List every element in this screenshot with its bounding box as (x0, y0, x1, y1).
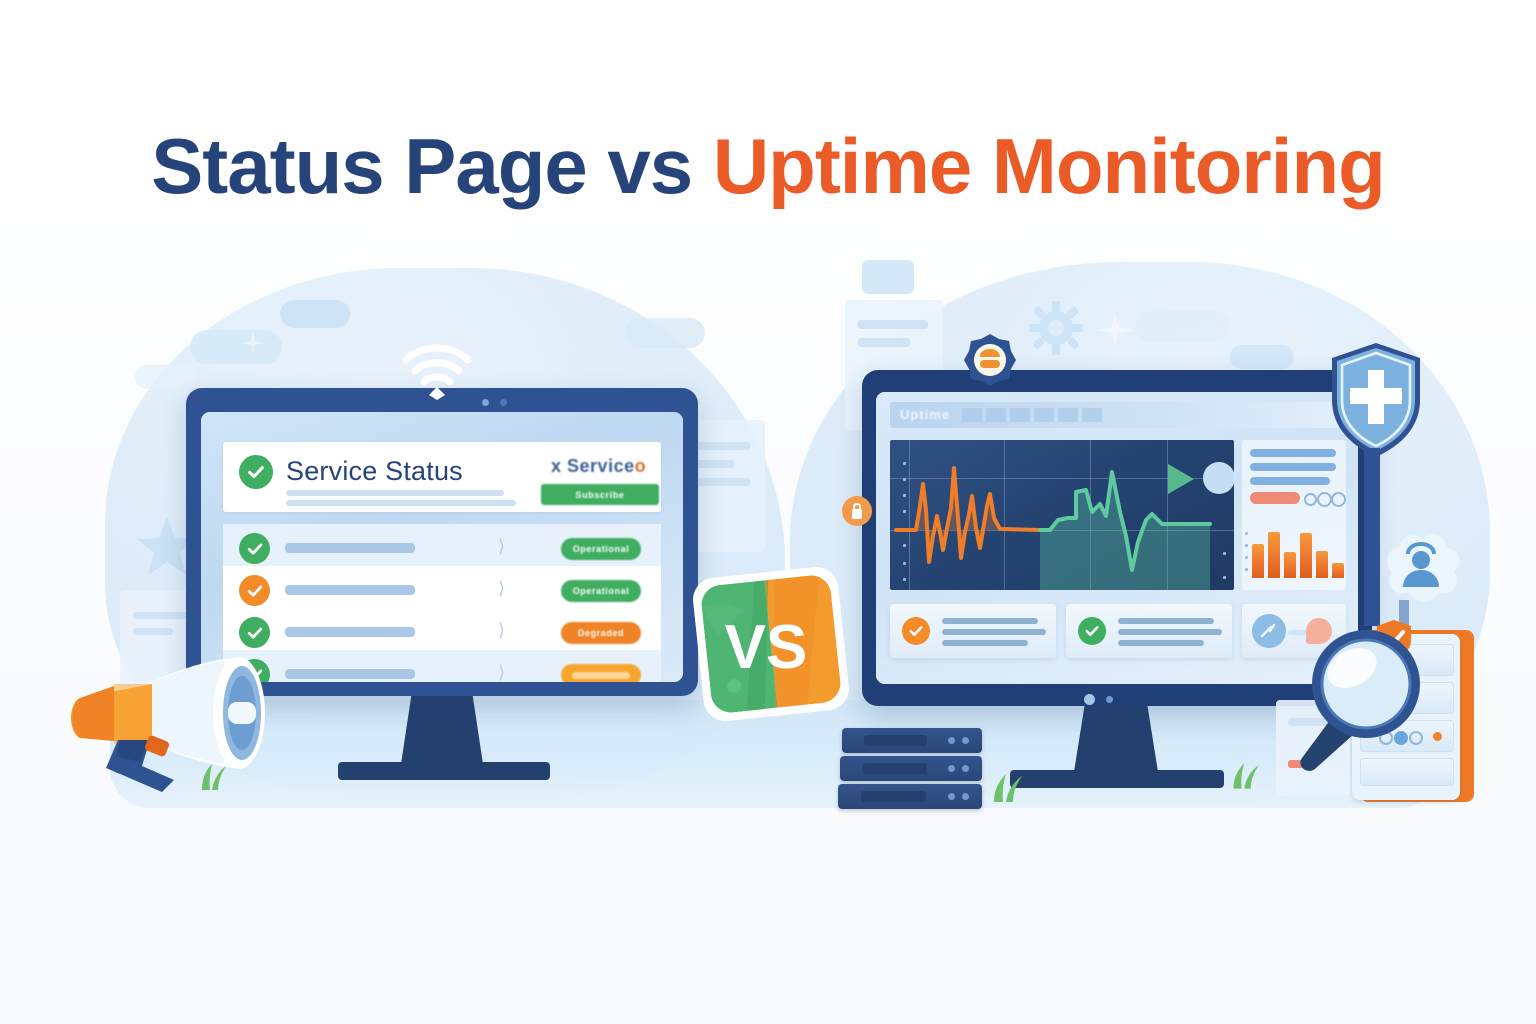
background-deco-line-1 (133, 612, 189, 619)
title-part-status-page: Status Page vs (151, 122, 692, 210)
background-deco-window-line-2 (858, 338, 910, 347)
play-triangle-icon[interactable] (1168, 464, 1194, 494)
megaphone-icon (62, 640, 302, 800)
card-line (1118, 640, 1204, 646)
side-panel-line-1 (1250, 449, 1336, 457)
shield-check-icon (1328, 340, 1424, 462)
vs-badge-text: VS (725, 613, 808, 682)
header-placeholder-line-2 (286, 500, 516, 506)
server-unit (840, 756, 982, 781)
side-panel-line-3 (1250, 477, 1330, 485)
row-label-placeholder (285, 543, 415, 553)
subscribe-button[interactable]: Subscribe (541, 484, 659, 505)
magnifier-icon (1286, 620, 1436, 776)
monitor-stand-base-left (338, 762, 550, 780)
background-deco-line-2 (133, 628, 173, 635)
chevron-right-icon: ⟩ (498, 662, 505, 682)
brand-prefix: x (551, 456, 562, 476)
status-badge: Operational (561, 538, 641, 560)
brand-logo: x Serviceo (551, 456, 646, 477)
status-badge (561, 664, 641, 682)
monitor-camera-dot-left (482, 399, 489, 406)
side-chart-tick (1245, 556, 1248, 559)
chevron-right-icon: ⟩ (498, 578, 505, 599)
grass-icon-left (196, 762, 236, 790)
service-status-title: Service Status (286, 456, 463, 487)
check-circle-icon-card-1 (902, 617, 930, 645)
check-circle-icon-header (239, 455, 273, 489)
side-panel-ring-3 (1331, 492, 1346, 507)
monitor-indicator-dot-right (1106, 696, 1113, 703)
side-panel-ring-2 (1317, 492, 1332, 507)
header-placeholder-line-1 (286, 490, 504, 496)
side-panel-line-2 (1250, 463, 1336, 471)
response-time-chart (890, 440, 1234, 590)
background-cloud-5 (1230, 345, 1294, 369)
brand-name: Service (567, 456, 635, 476)
toolbar-label: Uptime (900, 407, 950, 422)
status-card[interactable] (890, 604, 1056, 658)
side-bar-chart-bar (1268, 532, 1280, 578)
check-circle-icon-row-2 (239, 575, 270, 606)
background-deco-chip (862, 260, 914, 294)
row-label-placeholder (285, 585, 415, 595)
server-unit (838, 784, 982, 809)
metrics-side-panel (1242, 440, 1346, 590)
monitor-stand-neck-left (401, 688, 483, 764)
background-deco-window-line-1 (858, 320, 928, 329)
side-chart-tick (1245, 544, 1248, 547)
chart-series-incident-line (896, 468, 1040, 562)
monitor-stand-neck-right (1074, 698, 1158, 772)
chevron-right-icon: ⟩ (498, 536, 505, 557)
background-cloud-3 (135, 365, 197, 389)
side-bar-chart-bar (1284, 552, 1296, 578)
server-unit (842, 728, 982, 753)
monitor-indicator-dot-left (500, 399, 507, 406)
card-line (942, 618, 1038, 624)
status-card[interactable] (1066, 604, 1232, 658)
illustration-canvas: Status Page vs Uptime Monitoring (0, 0, 1536, 1024)
background-sparkle-icon-1 (1095, 310, 1135, 350)
grass-icon-right (988, 772, 1032, 802)
background-cloud-6 (625, 318, 705, 348)
side-panel-alert-pill (1250, 492, 1300, 504)
lock-badge-icon (842, 496, 872, 526)
gauge-icon (1252, 614, 1286, 648)
browser-toolbar[interactable]: Uptime (890, 402, 1344, 428)
row-label-placeholder (285, 627, 415, 637)
card-line (942, 640, 1028, 646)
chevron-right-icon: ⟩ (498, 620, 505, 641)
side-chart-tick (1245, 568, 1248, 571)
vs-badge: VS (678, 560, 864, 728)
side-bar-chart-bar (1316, 551, 1328, 578)
side-chart-tick (1245, 532, 1248, 535)
gear-badge-icon (962, 332, 1018, 388)
side-panel-ring-1 (1304, 493, 1317, 506)
server-rack-icon (838, 728, 988, 812)
wifi-icon (398, 342, 476, 400)
status-dot-icon (1203, 462, 1234, 494)
page-title: Status Page vs Uptime Monitoring (0, 118, 1536, 214)
background-cloud-4 (1135, 310, 1231, 342)
toolbar-cells (962, 408, 1102, 422)
grass-icon-far-right (1228, 760, 1268, 790)
background-cloud-2 (280, 300, 350, 328)
title-part-uptime-monitoring: Uptime Monitoring (713, 122, 1385, 210)
status-badge: Degraded (561, 622, 641, 644)
side-bar-chart-bar (1332, 563, 1344, 578)
check-circle-icon-row-1 (239, 533, 270, 564)
background-sparkle-icon-2 (240, 330, 266, 356)
status-badge: Operational (561, 580, 641, 602)
check-circle-icon-card-2 (1078, 617, 1106, 645)
monitor-camera-dot-right (1084, 694, 1095, 705)
background-cloud-1 (190, 330, 282, 364)
card-line (1118, 618, 1214, 624)
monitor-stand-base-right (1010, 770, 1224, 788)
side-bar-chart-bar (1252, 544, 1264, 578)
cloud-user-badge (1376, 530, 1466, 608)
background-gear-icon-1 (1028, 300, 1084, 356)
card-line (942, 629, 1046, 635)
row-label-placeholder (285, 669, 415, 679)
side-bar-chart-bar (1300, 533, 1312, 578)
card-line (1118, 629, 1222, 635)
service-status-header-card: Service Status x Serviceo Subscribe (223, 442, 661, 512)
